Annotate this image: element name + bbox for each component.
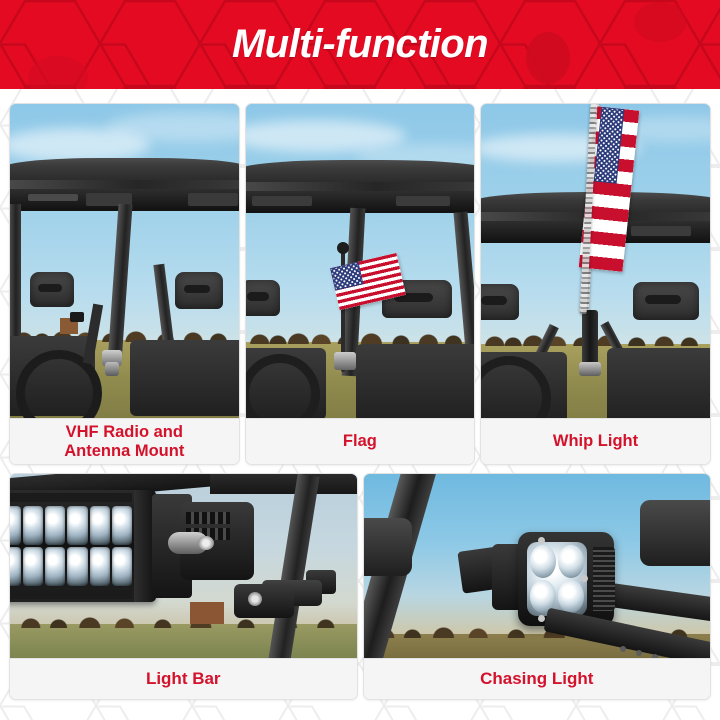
- feature-card-vhf-radio-antenna-mount[interactable]: VHF Radio and Antenna Mount: [9, 103, 240, 465]
- feature-card-chasing-light[interactable]: Chasing Light: [363, 473, 712, 700]
- feature-row-bottom: Light Bar: [9, 473, 711, 700]
- feature-row-top: VHF Radio and Antenna Mount: [9, 103, 711, 465]
- caption-chasing-light: Chasing Light: [364, 658, 711, 699]
- feature-card-light-bar[interactable]: Light Bar: [9, 473, 358, 700]
- caption-whip-light: Whip Light: [481, 418, 710, 464]
- feature-card-flag[interactable]: Flag: [245, 103, 476, 465]
- caption-line-1: VHF Radio and: [66, 423, 183, 441]
- photo-vhf-radio-antenna-mount: [10, 104, 239, 418]
- feature-grid: VHF Radio and Antenna Mount: [9, 103, 711, 700]
- feature-card-whip-light[interactable]: Whip Light: [480, 103, 711, 465]
- photo-flag: [246, 104, 475, 418]
- header-banner: Multi-function: [0, 0, 720, 89]
- caption-light-bar: Light Bar: [10, 658, 357, 699]
- page-title: Multi-function: [0, 0, 720, 89]
- caption-vhf-radio-antenna-mount: VHF Radio and Antenna Mount: [10, 418, 239, 464]
- caption-line-2: Antenna Mount: [64, 442, 184, 460]
- photo-light-bar: [10, 474, 357, 658]
- photo-whip-light: [481, 104, 710, 418]
- led-light-bar-graphic: [10, 490, 156, 602]
- photo-chasing-light: [364, 474, 711, 658]
- caption-flag: Flag: [246, 418, 475, 464]
